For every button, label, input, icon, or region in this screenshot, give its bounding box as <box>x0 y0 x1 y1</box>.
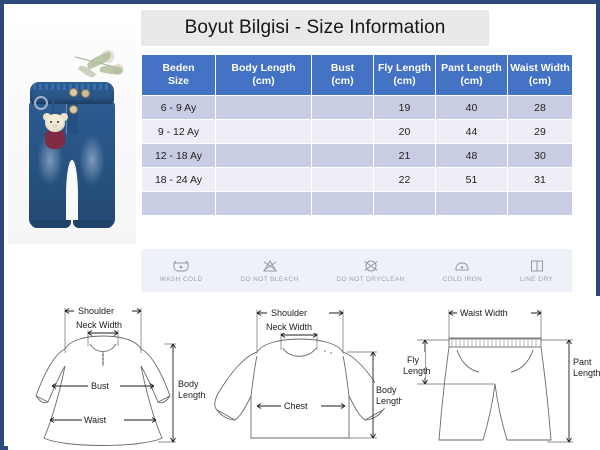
care-label: LINE DRY <box>520 276 553 283</box>
cold-iron-icon <box>452 258 472 274</box>
header-line-1: Bust <box>331 62 354 74</box>
header-line-1: Waist Width <box>510 62 570 74</box>
cell-pant-length: 40 <box>436 96 508 120</box>
header-line-1: Pant Length <box>441 62 502 74</box>
cell-body-length <box>216 144 312 168</box>
jeans-d-ring-icon <box>34 96 48 110</box>
wash-cold-icon <box>171 258 191 274</box>
line-dry-icon <box>527 258 547 274</box>
page-title: Boyut Bilgisi - Size Information <box>185 17 446 39</box>
pants-measurement-diagram: Waist Width Fly Length Pant Length <box>403 296 600 450</box>
size-chart-page: Boyut Bilgisi - Size Information Beden S… <box>0 0 600 450</box>
cell-size: 6 - 9 Ay <box>142 96 216 120</box>
teddy-bear-charm-icon <box>42 114 68 152</box>
cell-size: 12 - 18 Ay <box>142 144 216 168</box>
bear-head <box>45 114 65 132</box>
cell-waist-width: 29 <box>508 120 573 144</box>
page-title-bar: Boyut Bilgisi - Size Information <box>141 10 489 46</box>
label-fly-length-line2: Length <box>403 366 431 376</box>
denim-jeans-graphic <box>26 82 118 228</box>
label-shoulder: Shoulder <box>78 306 114 316</box>
header-line-2: (cm) <box>331 75 353 87</box>
care-label: WASH COLD <box>160 276 203 283</box>
column-header-pant-length: Pant Length (cm) <box>436 55 508 96</box>
column-header-body-length: Body Length (cm) <box>216 55 312 96</box>
care-item-do-not-dryclean: DO NOT DRYCLEAN <box>336 258 404 283</box>
column-header-fly-length: Fly Length (cm) <box>374 55 436 96</box>
header-line-2: (cm) <box>252 75 274 87</box>
header-line-2: (cm) <box>529 75 551 87</box>
column-header-beden-size: Beden Size <box>142 55 216 96</box>
cell-pant-length: 51 <box>436 168 508 192</box>
cell-bust <box>312 120 374 144</box>
care-item-line-dry: LINE DRY <box>520 258 553 283</box>
cell-body-length <box>216 192 312 216</box>
cell-fly-length: 19 <box>374 96 436 120</box>
cell-pant-length: 44 <box>436 120 508 144</box>
table-header-row: Beden Size Body Length (cm) Bust (cm) Fl… <box>142 55 573 96</box>
cell-waist-width <box>508 192 573 216</box>
cell-bust <box>312 96 374 120</box>
cell-fly-length <box>374 192 436 216</box>
cell-bust <box>312 168 374 192</box>
label-chest: Chest <box>284 401 308 411</box>
cell-body-length <box>216 96 312 120</box>
cell-size: 9 - 12 Ay <box>142 120 216 144</box>
size-table-wrapper: Beden Size Body Length (cm) Bust (cm) Fl… <box>141 54 572 216</box>
cell-bust <box>312 144 374 168</box>
cell-fly-length: 21 <box>374 144 436 168</box>
cell-size <box>142 192 216 216</box>
label-neck-width: Neck Width <box>266 322 312 332</box>
do-not-dryclean-icon <box>361 258 381 274</box>
cell-fly-length: 20 <box>374 120 436 144</box>
table-row <box>142 192 573 216</box>
label-body-length-line2: Length <box>178 390 205 400</box>
cell-size: 18 - 24 Ay <box>142 168 216 192</box>
header-line-2: Size <box>168 75 189 87</box>
header-line-2: (cm) <box>393 75 415 87</box>
measurement-diagrams: Shoulder Neck Width Bust Waist Body Leng… <box>8 296 600 450</box>
cell-pant-length: 48 <box>436 144 508 168</box>
jeans-right-hem <box>73 220 113 228</box>
care-item-cold-iron: COLD IRON <box>442 258 482 283</box>
label-body-length-line2: Length <box>376 396 402 406</box>
top-measurement-diagram: Shoulder Neck Width Chest Body Length <box>205 296 402 450</box>
size-table: Beden Size Body Length (cm) Bust (cm) Fl… <box>141 54 573 216</box>
cell-pant-length <box>436 192 508 216</box>
bear-body <box>45 129 65 149</box>
label-pant-length-line1: Pant <box>573 357 592 367</box>
dress-measurement-diagram: Shoulder Neck Width Bust Waist Body Leng… <box>8 296 205 450</box>
table-row: 18 - 24 Ay 22 51 31 <box>142 168 573 192</box>
cell-waist-width: 30 <box>508 144 573 168</box>
cell-body-length <box>216 120 312 144</box>
header-line-1: Fly Length <box>378 62 431 74</box>
cell-fly-length: 22 <box>374 168 436 192</box>
label-bust: Bust <box>91 381 110 391</box>
cell-waist-width: 31 <box>508 168 573 192</box>
label-waist: Waist <box>84 415 107 425</box>
label-neck-width: Neck Width <box>76 320 122 330</box>
cell-body-length <box>216 168 312 192</box>
header-line-1: Beden <box>162 62 194 74</box>
bear-muzzle <box>52 124 58 128</box>
care-instructions-band: WASH COLD DO NOT BLEACH DO NOT DRYCLEAN <box>141 249 572 292</box>
table-row: 9 - 12 Ay 20 44 29 <box>142 120 573 144</box>
cell-waist-width: 28 <box>508 96 573 120</box>
label-pant-length-line2: Length <box>573 368 600 378</box>
care-label: DO NOT DRYCLEAN <box>336 276 404 283</box>
do-not-bleach-icon <box>260 258 280 274</box>
label-waist-width: Waist Width <box>460 308 508 318</box>
column-header-bust: Bust (cm) <box>312 55 374 96</box>
care-label: DO NOT BLEACH <box>240 276 298 283</box>
jeans-button-icon <box>82 90 89 97</box>
product-photo <box>8 26 136 244</box>
bear-eye <box>57 121 59 123</box>
label-body-length-line1: Body <box>178 379 199 389</box>
label-fly-length-line1: Fly <box>407 355 419 365</box>
care-item-do-not-bleach: DO NOT BLEACH <box>240 258 298 283</box>
bear-eye <box>50 121 52 123</box>
label-shoulder: Shoulder <box>271 308 307 318</box>
care-item-wash-cold: WASH COLD <box>160 258 203 283</box>
care-label: COLD IRON <box>442 276 482 283</box>
header-line-1: Body Length <box>231 62 295 74</box>
header-line-2: (cm) <box>460 75 482 87</box>
cell-bust <box>312 192 374 216</box>
column-header-waist-width: Waist Width (cm) <box>508 55 573 96</box>
table-row: 6 - 9 Ay 19 40 28 <box>142 96 573 120</box>
jeans-button-icon <box>70 106 77 113</box>
table-row: 12 - 18 Ay 21 48 30 <box>142 144 573 168</box>
jeans-left-hem <box>31 220 71 228</box>
label-body-length-line1: Body <box>376 385 397 395</box>
jeans-button-icon <box>70 89 77 96</box>
